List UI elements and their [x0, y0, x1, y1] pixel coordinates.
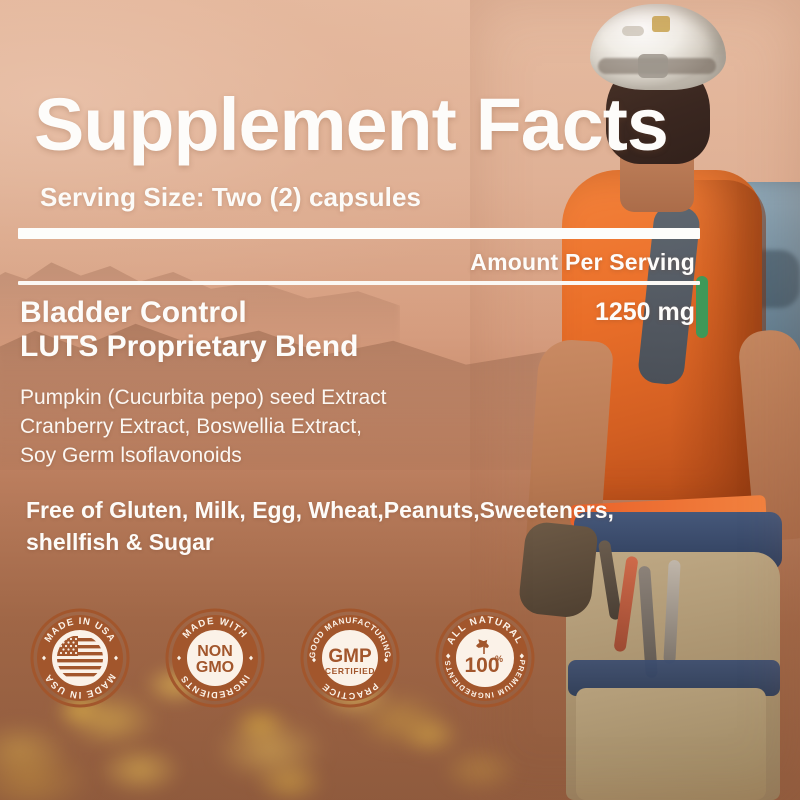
- svg-text:GMP: GMP: [328, 646, 372, 667]
- allergen-free-line-2: shellfish & Sugar: [26, 526, 614, 558]
- blend-name-line-2: LUTS Proprietary Blend: [20, 330, 358, 364]
- page-title: Supplement Facts: [34, 88, 668, 162]
- svg-text:%: %: [495, 654, 503, 664]
- svg-text:CERTIFIED: CERTIFIED: [325, 666, 375, 676]
- svg-text:NON: NON: [197, 643, 233, 660]
- serving-size-text: Serving Size: Two (2) capsules: [40, 182, 421, 213]
- blend-amount-value: 1250 mg: [595, 298, 695, 327]
- divider-thin: [18, 281, 700, 285]
- ingredient-line-2: Cranberry Extract, Boswellia Extract,: [20, 412, 387, 441]
- allergen-free-statement: Free of Gluten, Milk, Egg, Wheat,Peanuts…: [26, 494, 614, 558]
- seal-gmp-certified-icon: GMP CERTIFIED GOOD MANUFACTURING PRACTIC…: [300, 608, 400, 708]
- ingredient-line-1: Pumpkin (Cucurbita pepo) seed Extract: [20, 383, 387, 412]
- seal-made-in-usa-icon: MADE IN USA MADE IN USA: [30, 608, 130, 708]
- divider-thick: [18, 228, 700, 239]
- blend-name: Bladder Control LUTS Proprietary Blend: [20, 296, 358, 364]
- amount-per-serving-header: Amount Per Serving: [470, 249, 695, 276]
- certification-seals: MADE IN USA MADE IN USA NON: [22, 605, 582, 710]
- supplement-facts-label-image: Supplement Facts Serving Size: Two (2) c…: [0, 0, 800, 800]
- allergen-free-line-1: Free of Gluten, Milk, Egg, Wheat,Peanuts…: [26, 494, 614, 526]
- blend-name-line-1: Bladder Control: [20, 296, 358, 330]
- seal-all-natural-icon: 100 % ALL NATURAL PREMIUM INGREDIENTS: [435, 608, 535, 708]
- svg-text:GMO: GMO: [196, 659, 234, 676]
- ingredient-line-3: Soy Germ lsoflavonoids: [20, 441, 387, 470]
- seal-non-gmo-icon: NON GMO MADE WITH INGREDIENTS: [165, 608, 265, 708]
- ingredients-list: Pumpkin (Cucurbita pepo) seed Extract Cr…: [20, 383, 387, 470]
